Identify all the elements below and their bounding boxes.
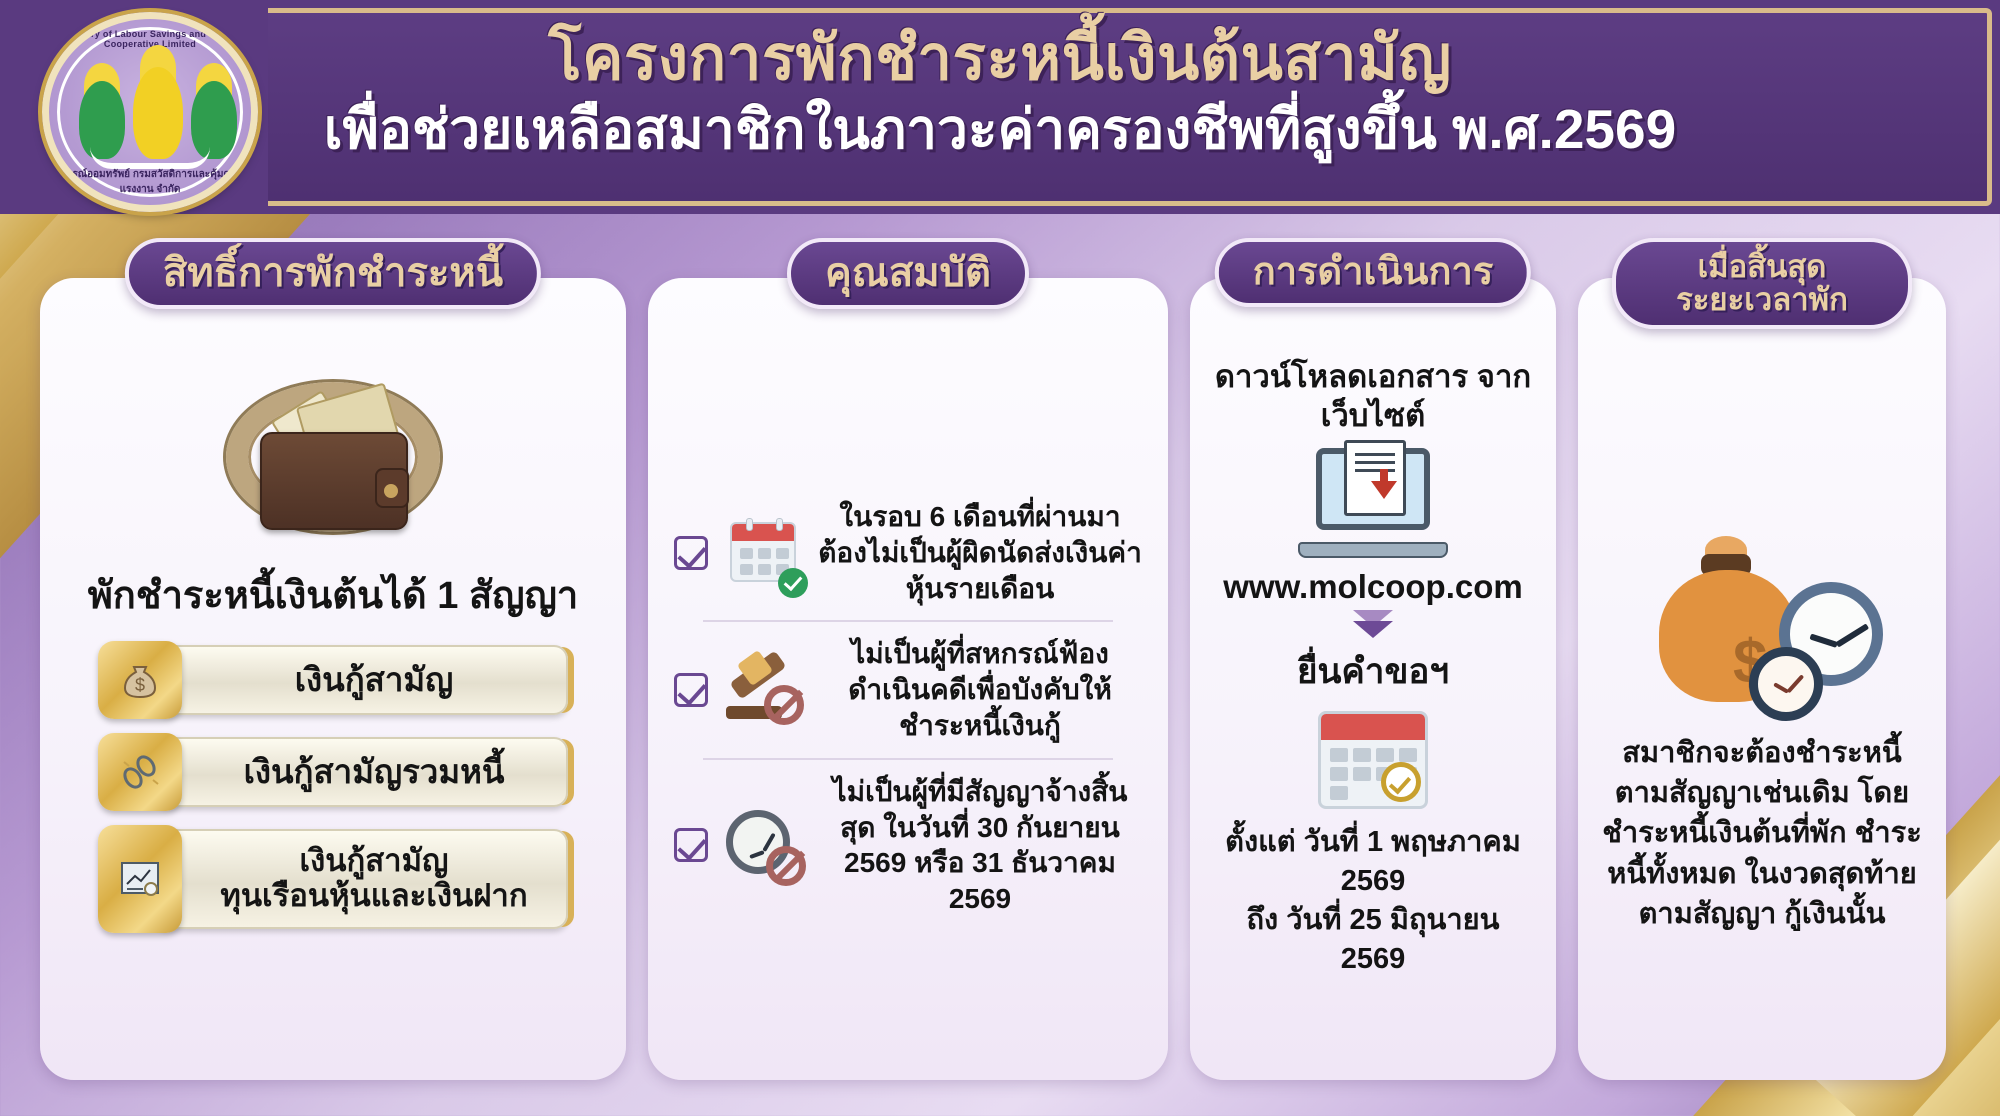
- list-item: ไม่เป็นผู้ที่มีสัญญาจ้างสิ้นสุด ในวันที่…: [670, 760, 1146, 931]
- checkbox-icon[interactable]: [674, 828, 708, 862]
- header-banner: โครงการพักชำระหนี้เงินต้นสามัญ เพื่อช่วย…: [0, 0, 2000, 214]
- money-bag-and-clocks-icon: $: [1637, 540, 1887, 715]
- header-titles: โครงการพักชำระหนี้เงินต้นสามัญ เพื่อช่วย…: [0, 0, 2000, 162]
- process-dates: ตั้งแต่ วันที่ 1 พฤษภาคม 2569ถึง วันที่ …: [1212, 823, 1534, 980]
- calendar-approved-icon: [1318, 711, 1428, 809]
- column-header-rights: สิทธิ์การพักชำระหนี้: [125, 238, 541, 309]
- double-chevron-down-icon: [1353, 616, 1393, 638]
- svg-text:$: $: [135, 675, 145, 695]
- process-lead-text: ดาวน์โหลดเอกสาร จากเว็บไซต์: [1212, 358, 1534, 436]
- broken-chain-icon: [98, 733, 182, 811]
- column-header-after-period: เมื่อสิ้นสุดระยะเวลาพัก: [1612, 238, 1912, 329]
- card-process: ดาวน์โหลดเอกสาร จากเว็บไซต์ www.molcoop.…: [1190, 278, 1556, 1080]
- content-columns: พักชำระหนี้เงินต้นได้ 1 สัญญา เงินกู้สาม…: [0, 238, 2000, 1098]
- laptop-download-icon: [1298, 448, 1448, 558]
- column-rights: พักชำระหนี้เงินต้นได้ 1 สัญญา เงินกู้สาม…: [40, 238, 626, 1098]
- qualification-text: ไม่เป็นผู้ที่มีสัญญาจ้างสิ้นสุด ในวันที่…: [818, 774, 1142, 917]
- after-period-text: สมาชิกจะต้องชำระหนี้ ตามสัญญาเช่นเดิม โด…: [1600, 733, 1924, 933]
- rights-item-label: เงินกู้สามัญ: [295, 662, 453, 699]
- rights-lead-text: พักชำระหนี้เงินต้นได้ 1 สัญญา: [88, 564, 579, 625]
- qualification-text: ไม่เป็นผู้ที่สหกรณ์ฟ้อง ดำเนินคดีเพื่อบั…: [818, 636, 1142, 743]
- logo-figure-center: [133, 67, 183, 159]
- checkbox-icon[interactable]: [674, 673, 708, 707]
- card-after-period: $ สมาชิกจะต้องชำระหนี้ ตามสัญญาเช่นเดิม …: [1578, 278, 1946, 1080]
- website-url[interactable]: www.molcoop.com: [1223, 568, 1522, 606]
- certificate-icon: [98, 825, 182, 933]
- logo-wave: [90, 147, 210, 169]
- wallet-with-chain-icon: [218, 376, 448, 556]
- column-qualifications: ในรอบ 6 เดือนที่ผ่านมา ต้องไม่เป็นผู้ผิด…: [648, 238, 1168, 1098]
- money-bag-icon: $: [98, 641, 182, 719]
- page-subtitle: เพื่อช่วยเหลือสมาชิกในภาวะค่าครองชีพที่ส…: [0, 97, 2000, 162]
- list-item: ในรอบ 6 เดือนที่ผ่านมา ต้องไม่เป็นผู้ผิด…: [670, 485, 1146, 620]
- calendar-check-icon: [720, 510, 806, 596]
- gavel-forbidden-icon: [720, 647, 806, 733]
- card-rights: พักชำระหนี้เงินต้นได้ 1 สัญญา เงินกู้สาม…: [40, 278, 626, 1080]
- column-process: ดาวน์โหลดเอกสาร จากเว็บไซต์ www.molcoop.…: [1190, 238, 1556, 1098]
- list-item[interactable]: เงินกู้สามัญรวมหนี้: [98, 733, 568, 811]
- list-item[interactable]: เงินกู้สามัญ $: [98, 641, 568, 719]
- cooperative-logo: Ministry of Labour Savings and Credit Co…: [42, 12, 258, 212]
- clock-forbidden-icon: [720, 802, 806, 888]
- qualification-text: ในรอบ 6 เดือนที่ผ่านมา ต้องไม่เป็นผู้ผิด…: [818, 499, 1142, 606]
- process-sub-text: ยื่นคำขอฯ: [1297, 644, 1449, 699]
- card-qualifications: ในรอบ 6 เดือนที่ผ่านมา ต้องไม่เป็นผู้ผิด…: [648, 278, 1168, 1080]
- rights-item-label: เงินกู้สามัญรวมหนี้: [244, 754, 505, 791]
- column-after-period: $ สมาชิกจะต้องชำระหนี้ ตามสัญญาเช่นเดิม …: [1578, 238, 1946, 1098]
- checkbox-icon[interactable]: [674, 536, 708, 570]
- column-header-qualifications: คุณสมบัติ: [787, 238, 1029, 309]
- list-item[interactable]: เงินกู้สามัญทุนเรือนหุ้นและเงินฝาก: [98, 825, 568, 933]
- page-title: โครงการพักชำระหนี้เงินต้นสามัญ: [0, 24, 2000, 93]
- list-item: ไม่เป็นผู้ที่สหกรณ์ฟ้อง ดำเนินคดีเพื่อบั…: [670, 622, 1146, 757]
- rights-item-label: เงินกู้สามัญทุนเรือนหุ้นและเงินฝาก: [220, 844, 527, 913]
- column-header-process: การดำเนินการ: [1215, 238, 1531, 307]
- logo-text-thai: สหกรณ์ออมทรัพย์ กรมสวัสดิการและคุ้มครองแ…: [49, 167, 251, 197]
